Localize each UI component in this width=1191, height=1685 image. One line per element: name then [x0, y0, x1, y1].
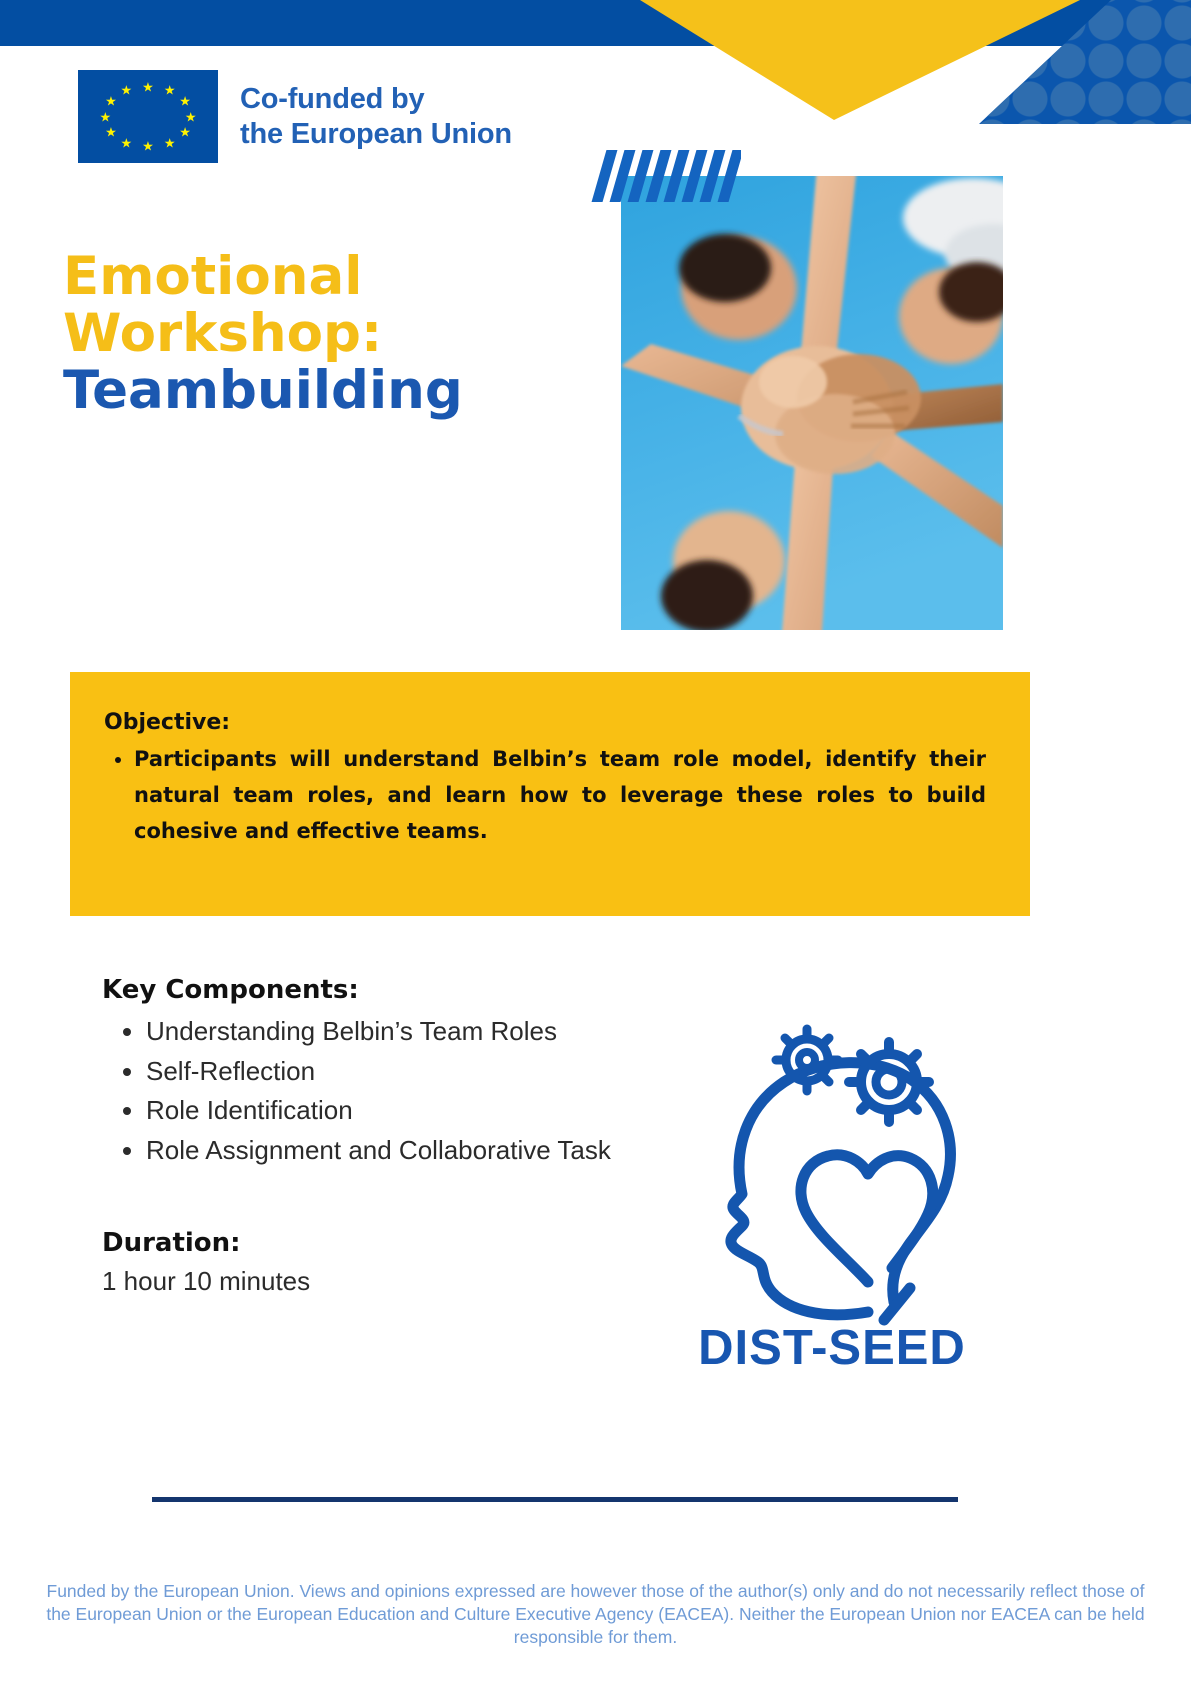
footer-divider — [152, 1497, 958, 1502]
head-with-heart-and-gears-icon — [672, 1020, 992, 1330]
key-component-item: Role Assignment and Collaborative Task — [146, 1131, 611, 1171]
duration-value: 1 hour 10 minutes — [102, 1266, 310, 1297]
eu-cofunding-text: Co-funded by the European Union — [240, 82, 512, 150]
eu-cofunding-logo: ★ ★ ★ ★ ★ ★ ★ ★ ★ ★ ★ ★ Co-funded by the… — [78, 70, 512, 163]
poster-page: ★ ★ ★ ★ ★ ★ ★ ★ ★ ★ ★ ★ Co-funded by the… — [0, 0, 1191, 1685]
hero-photo-container — [621, 150, 1003, 630]
title-line-1: Emotional — [63, 248, 583, 305]
eu-flag-icon: ★ ★ ★ ★ ★ ★ ★ ★ ★ ★ ★ ★ — [78, 70, 218, 163]
diagonal-stripes-decoration — [591, 150, 741, 202]
key-component-item: Self-Reflection — [146, 1052, 611, 1092]
objective-bullet-item: Participants will understand Belbin’s te… — [134, 741, 986, 849]
page-title: Emotional Workshop: Teambuilding — [63, 248, 583, 420]
photo-illustration — [621, 176, 1003, 630]
key-component-item: Role Identification — [146, 1091, 611, 1131]
footer-disclaimer: Funded by the European Union. Views and … — [40, 1580, 1151, 1649]
objective-heading: Objective: — [104, 710, 996, 735]
team-hands-photo — [621, 176, 1003, 630]
title-line-3: Teambuilding — [63, 362, 583, 419]
dist-seed-wordmark: DIST-SEED — [672, 1320, 992, 1376]
eu-text-line-2: the European Union — [240, 117, 512, 151]
key-components-list: Understanding Belbin’s Team Roles Self-R… — [102, 1012, 611, 1170]
duration-heading: Duration: — [102, 1228, 241, 1258]
key-components-heading: Key Components: — [102, 975, 359, 1005]
dist-seed-logo: DIST-SEED — [672, 1020, 992, 1390]
eu-text-line-1: Co-funded by — [240, 82, 512, 116]
objective-box: Objective: Participants will understand … — [70, 672, 1030, 916]
title-line-2: Workshop: — [63, 305, 583, 362]
objective-bullet-list: Participants will understand Belbin’s te… — [104, 741, 996, 849]
key-component-item: Understanding Belbin’s Team Roles — [146, 1012, 611, 1052]
